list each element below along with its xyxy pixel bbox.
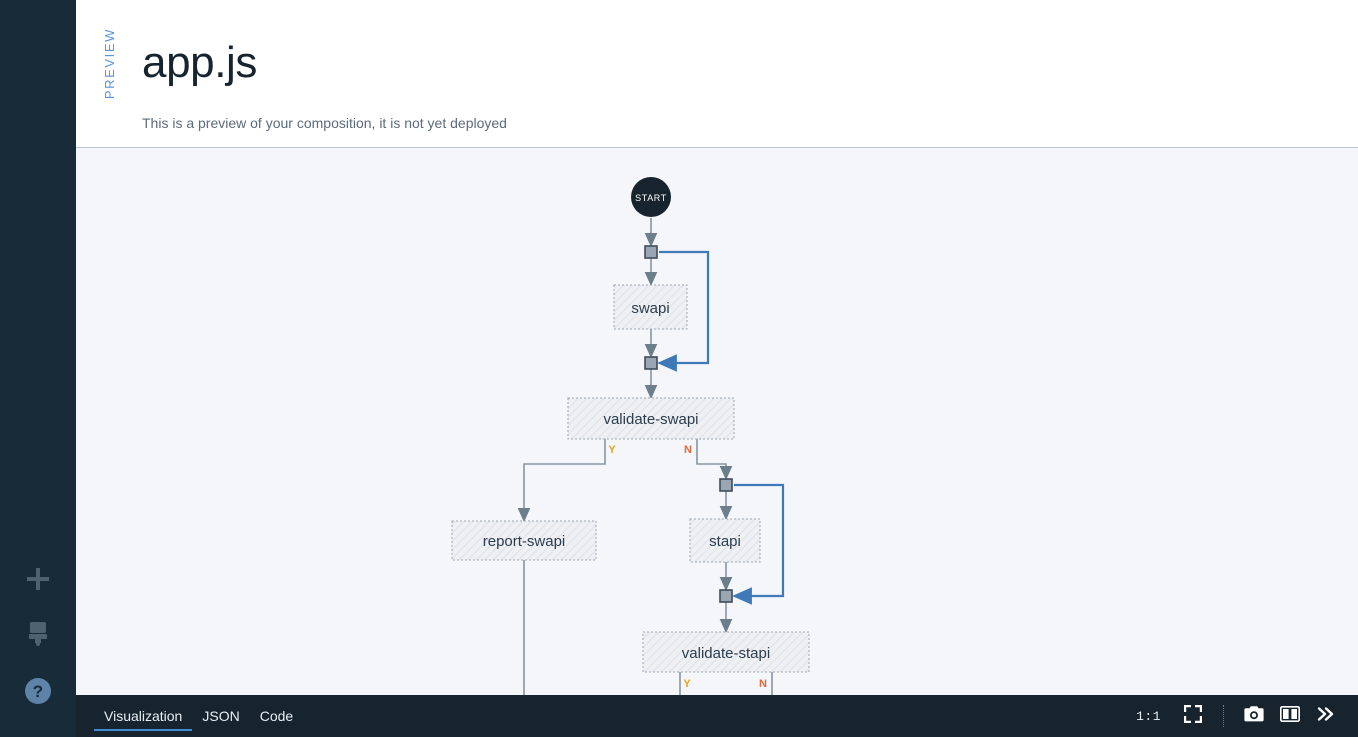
theme-button[interactable] (12, 607, 64, 659)
node-start[interactable]: START (631, 177, 671, 217)
tab-json-label: JSON (202, 708, 239, 724)
junction-stapi-out[interactable] (720, 590, 732, 602)
edge-label-no-swapi: N (684, 444, 692, 456)
node-validate-stapi-label: validate-stapi (682, 645, 770, 662)
junction-stapi-in[interactable] (720, 479, 732, 491)
add-icon (23, 564, 53, 594)
help-icon: ? (19, 672, 57, 710)
page-subtitle: This is a preview of your composition, i… (142, 115, 507, 131)
preview-badge: PREVIEW (102, 28, 117, 99)
split-panel-button[interactable] (1275, 701, 1305, 731)
edge-label-yes-swapi: Y (608, 444, 616, 456)
node-validate-swapi-label: validate-swapi (603, 411, 698, 428)
visualization-canvas[interactable]: START swapi validate-swapi report-swapi (76, 148, 1358, 700)
split-panel-icon (1280, 706, 1300, 727)
flow-diagram[interactable]: START swapi validate-swapi report-swapi (76, 148, 1358, 700)
tab-json[interactable]: JSON (192, 695, 249, 737)
app-root: ? PREVIEW app.js This is a preview of yo… (0, 0, 1358, 737)
junction-swapi-out[interactable] (645, 357, 657, 369)
fit-screen-icon (1184, 705, 1202, 728)
node-swapi-label: swapi (631, 300, 669, 317)
page-title: app.js (142, 38, 257, 88)
main-panel: PREVIEW app.js This is a preview of your… (76, 0, 1358, 737)
help-button[interactable]: ? (12, 665, 64, 717)
toolbar-separator (1223, 705, 1224, 727)
fit-screen-button[interactable] (1178, 701, 1208, 731)
svg-text:?: ? (33, 682, 43, 701)
screenshot-button[interactable] (1239, 701, 1269, 731)
node-report-swapi[interactable]: report-swapi (452, 521, 596, 560)
add-button[interactable] (12, 553, 64, 605)
tab-visualization[interactable]: Visualization (94, 695, 192, 737)
node-start-label: START (635, 193, 667, 203)
brush-icon (24, 618, 52, 648)
view-tabs: Visualization JSON Code (76, 695, 303, 737)
node-stapi-label: stapi (709, 533, 741, 550)
tab-code-label: Code (260, 708, 293, 724)
tab-visualization-label: Visualization (104, 708, 182, 724)
edge-label-no-stapi: N (759, 678, 767, 690)
node-validate-stapi[interactable]: validate-stapi (643, 632, 809, 672)
left-sidebar: ? (0, 0, 76, 737)
toolbar-actions: 1:1 (1136, 695, 1358, 737)
node-swapi[interactable]: swapi (614, 285, 687, 329)
edge-label-yes-stapi: Y (683, 678, 691, 690)
node-validate-swapi[interactable]: validate-swapi (568, 398, 734, 439)
node-stapi[interactable]: stapi (690, 519, 760, 562)
tab-code[interactable]: Code (250, 695, 303, 737)
zoom-level-label[interactable]: 1:1 (1136, 709, 1161, 724)
expand-panel-button[interactable] (1311, 701, 1341, 731)
chevron-double-right-icon (1316, 706, 1336, 727)
camera-icon (1244, 705, 1264, 728)
bottom-toolbar: Visualization JSON Code 1:1 (76, 695, 1358, 737)
page-header: PREVIEW app.js This is a preview of your… (76, 0, 1358, 148)
junction-swapi-in[interactable] (645, 246, 657, 258)
node-report-swapi-label: report-swapi (483, 533, 566, 550)
